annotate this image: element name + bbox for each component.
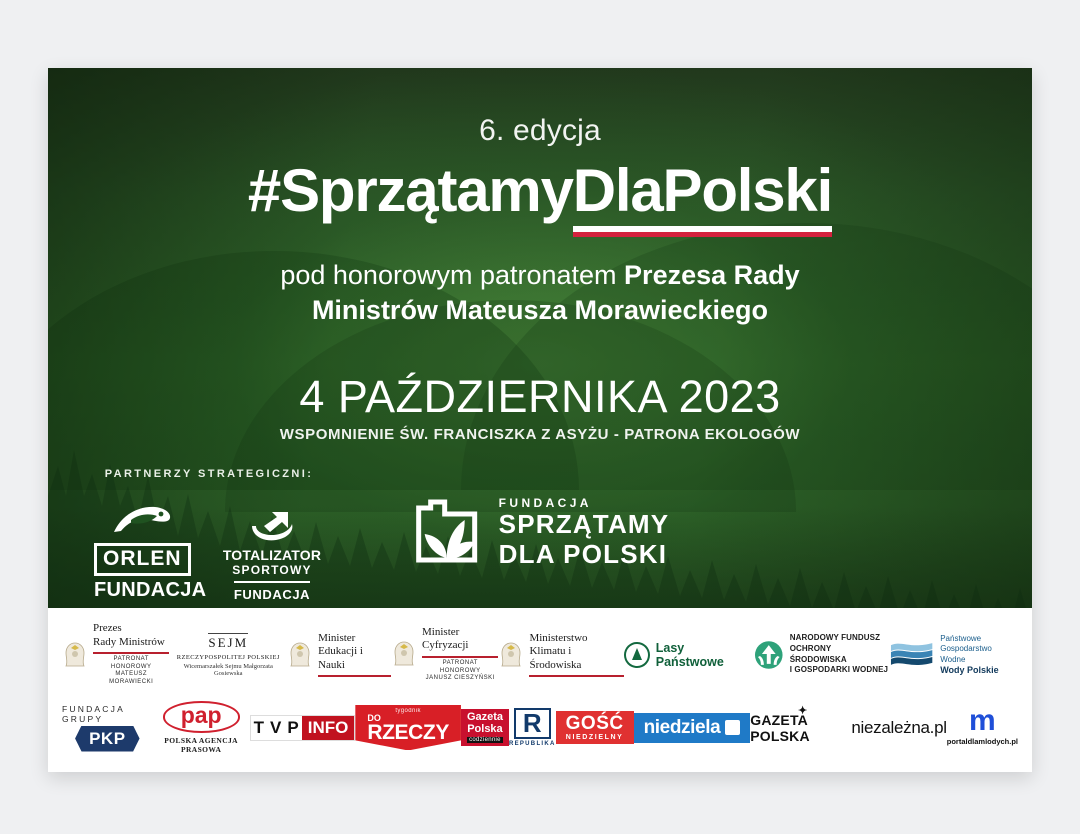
screenshot-root: 6. edycja #SprzątamyDlaPolski pod honoro… [0,0,1080,834]
logo-pap: pap POLSKA AGENCJA PRASOWA [153,701,250,753]
pap-caption: POLSKA AGENCJA PRASOWA [153,736,250,754]
orlen-eagle-icon [94,501,190,541]
gpc-line2: Polska [467,724,503,736]
polish-eagle-icon [287,640,313,670]
hashtag-second-part: DlaPolski [573,157,832,224]
prm-red-rule [93,652,169,654]
tvp-info-word: INFO [302,716,355,740]
men-title-line2: Edukacji i Nauki [318,645,391,672]
totalizator-arrow-icon [220,507,324,547]
campaign-hashtag: #SprzątamyDlaPolski [48,156,1032,225]
mkis-title-line2: Klimatu i Środowiska [529,645,624,672]
gosc-niedzielny-word: NIEDZIELNY [566,734,624,741]
totalizator-line1: TOTALIZATOR [220,547,324,563]
totalizator-divider [234,581,310,583]
mkis-red-rule [529,675,624,677]
logo-sejm-rp: SEJM RZECZYPOSPOLITEJ POLSKIEJ Wicemarsz… [169,633,287,677]
republika-letter: R [514,708,551,739]
totalizator-line2: SPORTOWY [220,563,324,577]
pkp-wordmark: PKP [75,726,139,752]
polish-eagle-icon [391,639,417,669]
prm-patronage-line1: PATRONAT HONOROWY [93,656,169,671]
mc-patronage-line1: PATRONAT HONOROWY [422,660,498,675]
logo-niedziela: niedziela [634,713,751,743]
orlen-foundation-logo: ORLEN FUNDACJA [94,501,190,602]
orlen-foundation-word: FUNDACJA [94,579,190,602]
logo-gazeta-polska: ✦ GAZETA POLSKA [750,712,851,744]
foundation-word-dlapolski: DLA POLSKI [499,540,670,569]
dorzeczy-rzeczy: RZECZY [367,723,449,743]
logo-prezes-rady-ministrow: Prezes Rady Ministrów PATRONAT HONOROWY … [62,622,169,687]
lasy-panstwowe-name: Lasy Państwowe [656,641,754,669]
nfosigw-line3: I GOSPODARKI WODNEJ [790,665,889,676]
republika-caption: REPUBLIKA [509,741,556,747]
polish-flag-underline [573,226,832,237]
wody-line1: Państwowe [940,634,1018,644]
logo-nfosigw: NARODOWY FUNDUSZ OCHRONY ŚRODOWISKA I GO… [754,633,889,676]
event-date: 4 PAŹDZIERNIKA 2023 [48,371,1032,423]
logo-minister-cyfryzacji: Minister Cyfryzacji PATRONAT HONOROWY JA… [391,626,498,683]
mkis-title-line1: Ministerstwo [529,632,624,645]
niedziela-word: niedziela [644,717,721,739]
strategic-partners-label: PARTNERZY STRATEGICZNI: [84,468,334,480]
logo-portal-dla-mlodych: m portaldlamlodych.pl [947,709,1018,746]
logo-niezalezna-pl: niezależna.pl [851,718,946,738]
nfosigw-tree-icon [754,640,784,670]
niedziela-badge-icon [725,720,740,735]
mc-title-line2: Cyfryzacji [422,639,498,652]
wody-line3: Wody Polskie [940,665,1018,675]
pkp-foundation-label: FUNDACJA GRUPY [62,704,153,724]
partners-row-1: Prezes Rady Ministrów PATRONAT HONOROWY … [62,618,1018,691]
patronage-person: Ministrów Mateusza Morawieckiego [312,295,768,325]
gpc-codziennie: codziennie [467,737,503,743]
tvp-letter-v: V [267,716,284,740]
edition-label: 6. edycja [48,114,1032,148]
polish-eagle-icon [62,640,88,670]
sejm-wordmark: SEJM [208,633,248,651]
nfosigw-line2: OCHRONY ŚRODOWISKA [790,644,889,666]
orlen-wordmark: ORLEN [94,543,191,576]
totalizator-line3: FUNDACJA [220,587,324,602]
prm-patronage-line2: MATEUSZ MORAWIECKI [93,671,169,686]
gosc-word: GOŚĆ [566,714,624,733]
partners-row-2: FUNDACJA GRUPY PKP pap POLSKA AGENCJA PR… [62,691,1018,764]
gpc-line1: Gazeta [467,712,503,724]
mc-red-rule [422,656,498,658]
logo-tvp-info: T V P INFO [250,715,356,741]
prm-title-line2: Rady Ministrów [93,636,169,649]
logo-minister-edukacji-i-nauki: Minister Edukacji i Nauki [287,632,391,677]
logo-wody-polskie: Państwowe Gospodarstwo Wodne Wody Polski… [889,634,1018,675]
logo-lasy-panstwowe: Lasy Państwowe [624,641,754,669]
foundation-wordmark: FUNDACJA SPRZĄTAMY DLA POLSKI [499,496,670,568]
patronage-role: Prezesa Rady [624,260,800,290]
portal-m-mark: m [947,709,1018,733]
logo-ministerstwo-klimatu-i-srodowiska: Ministerstwo Klimatu i Środowiska [498,632,624,677]
patronage-text: pod honorowym patronatem Prezesa Rady Mi… [48,258,1032,328]
hashtag-first-part: #Sprzątamy [248,157,573,224]
strategic-partners-logos: ORLEN FUNDACJA TOTALIZATOR SPORTOWY FUND… [84,492,334,602]
polish-eagle-icon [498,640,524,670]
gazeta-polska-star-icon: ✦ [798,704,807,717]
sejm-line1: RZECZYPOSPOLITEJ POLSKIEJ [169,654,287,661]
totalizator-sportowy-foundation-logo: TOTALIZATOR SPORTOWY FUNDACJA [220,507,324,602]
hashtag-underlined-part: DlaPolski [573,156,832,225]
mc-patronage-line2: JANUSZ CIESZYŃSKI [422,675,498,683]
portal-caption: portaldlamlodych.pl [947,737,1018,746]
campaign-poster: 6. edycja #SprzątamyDlaPolski pod honoro… [48,68,1032,772]
foundation-word-sprzatamy: SPRZĄTAMY [499,510,670,539]
patronage-prefix: pod honorowym patronatem [280,260,624,290]
niezalezna-word: niezależna.pl [851,718,946,738]
partners-bar: Prezes Rady Ministrów PATRONAT HONOROWY … [48,608,1032,772]
tvp-letter-t: T [251,716,267,740]
logo-do-rzeczy: tygodnik DO RZECZY [355,705,461,751]
prm-title-line1: Prezes [93,622,169,635]
dorzeczy-small: tygodnik [367,708,449,714]
wody-line2: Gospodarstwo Wodne [940,644,1018,665]
logo-fundacja-grupy-pkp: FUNDACJA GRUPY PKP [62,704,153,752]
event-date-subtitle: WSPOMNIENIE ŚW. FRANCISZKA Z ASYŻU - PAT… [48,426,1032,443]
men-red-rule [318,675,391,677]
flag-stripe-red [573,232,832,238]
lasy-panstwowe-seal-icon [624,642,650,668]
men-title-line1: Minister [318,632,391,645]
nfosigw-line1: NARODOWY FUNDUSZ [790,633,889,644]
wody-polskie-waves-icon [889,639,934,669]
foundation-word-fundacja: FUNDACJA [499,496,670,510]
sejm-line2: Wicemarszałek Sejmu Małgorzata Gosiewska [169,663,287,677]
mc-title-line1: Minister [422,626,498,639]
tvp-letter-p: P [284,716,301,740]
pap-wordmark: pap [163,701,240,732]
logo-gosc-niedzielny: GOŚĆ NIEDZIELNY [556,711,634,744]
logo-telewizja-republika: R REPUBLIKA [509,708,556,747]
foundation-leaf-icon [411,492,483,573]
foundation-logo: FUNDACJA SPRZĄTAMY DLA POLSKI [411,492,670,573]
logo-gazeta-polska-codziennie: Gazeta Polska codziennie [461,709,509,746]
